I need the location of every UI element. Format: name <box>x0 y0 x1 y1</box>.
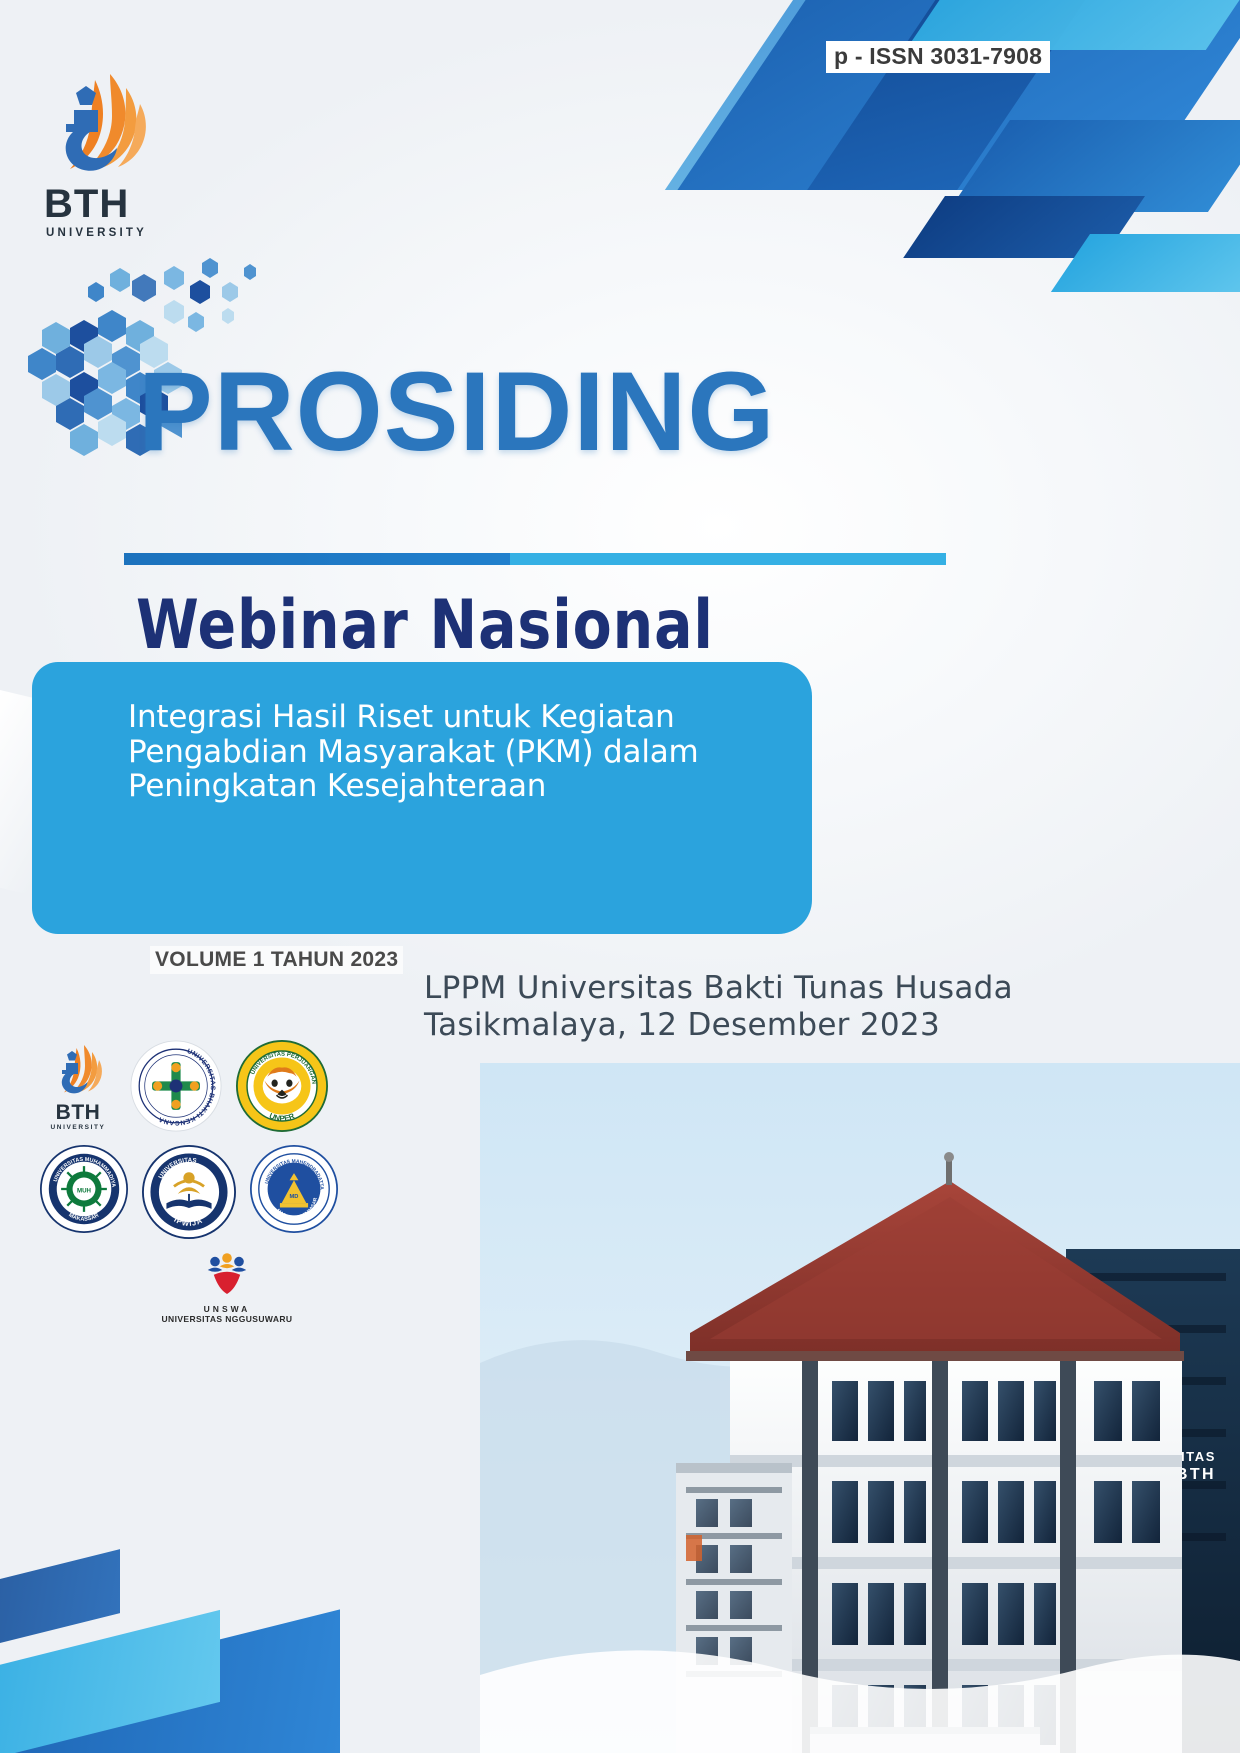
partner-bth-wordmark: BTH <box>40 1102 116 1123</box>
theme-line-3: Peningkatan Kesejahteraan <box>128 769 788 804</box>
partner-logo-muhammadiyah-makassar: MUH UNIVERSITAS MUHAMMADIYAH MAKASSAR <box>40 1145 128 1238</box>
partner-logo-row: UNSWA UNIVERSITAS NGGUSUWARU <box>152 1252 390 1324</box>
partner-logos: BTH UNIVERSITY <box>40 1040 390 1332</box>
svg-text:MUH: MUH <box>77 1188 92 1195</box>
divider-segment-right <box>510 553 946 565</box>
ipwija-seal-icon: UNIVERSITAS IPWIJA <box>142 1145 236 1239</box>
partner-logo-unswa: UNSWA UNIVERSITAS NGGUSUWARU <box>152 1252 302 1324</box>
organizer-block: LPPM Universitas Bakti Tunas Husada Tasi… <box>424 970 1013 1044</box>
campus-building-photo: UNIVERSITAS BTH <box>480 1063 1240 1753</box>
bth-subwordmark: UNIVERSITY <box>38 227 168 239</box>
partner-bth-subwordmark: UNIVERSITY <box>40 1124 116 1131</box>
bth-flame-icon <box>38 70 158 182</box>
bth-university-logo: BTH UNIVERSITY <box>38 70 168 239</box>
volume-label: VOLUME 1 TAHUN 2023 <box>150 946 403 974</box>
partner-logo-mahendradatta: MD UNIVERSITAS MAHENDRADATTA MARHAEN DEN… <box>250 1145 338 1238</box>
theme-line-2: Pengabdian Masyarakat (PKM) dalam <box>128 735 788 770</box>
organizer-line-1: LPPM Universitas Bakti Tunas Husada <box>424 970 1013 1007</box>
partner-logo-bth: BTH UNIVERSITY <box>40 1040 116 1131</box>
svg-text:MD: MD <box>290 1194 299 1200</box>
title-divider <box>124 553 946 565</box>
divider-segment-left <box>124 553 510 565</box>
unswa-people-icon <box>197 1252 257 1300</box>
unswa-fullname: UNIVERSITAS NGGUSUWARU <box>152 1314 302 1324</box>
unswa-acronym: UNSWA <box>152 1304 302 1314</box>
partner-logo-row: BTH UNIVERSITY <box>40 1040 390 1137</box>
issn-badge: p - ISSN 3031-7908 <box>826 41 1050 73</box>
theme-text: Integrasi Hasil Riset untuk Kegiatan Pen… <box>128 700 788 804</box>
bth-wordmark: BTH <box>38 184 168 224</box>
organizer-line-2: Tasikmalaya, 12 Desember 2023 <box>424 1007 1013 1044</box>
journal-cover: p - ISSN 3031-7908 BTH UNIVERSITY <box>0 0 1240 1753</box>
theme-line-1: Integrasi Hasil Riset untuk Kegiatan <box>128 700 788 735</box>
partner-logo-unper: UNIVERSITAS PERJUANGAN UNPER <box>236 1040 328 1137</box>
page-subtitle: Webinar Nasional <box>136 592 714 660</box>
partner-logo-bhakti-kencana: UNIVERSITAS BHAKTI KENCANA <box>130 1040 222 1137</box>
muhammadiyah-makassar-seal-icon: MUH UNIVERSITAS MUHAMMADIYAH MAKASSAR <box>40 1145 128 1233</box>
unper-seal-icon: UNIVERSITAS PERJUANGAN UNPER <box>236 1040 328 1132</box>
mahendradatta-seal-icon: MD UNIVERSITAS MAHENDRADATTA MARHAEN DEN… <box>250 1145 338 1233</box>
page-title: PROSIDING <box>138 356 776 468</box>
partner-logo-row: MUH UNIVERSITAS MUHAMMADIYAH MAKASSAR <box>40 1145 390 1244</box>
partner-logo-ipwija: UNIVERSITAS IPWIJA <box>142 1145 236 1244</box>
bth-flame-icon <box>48 1040 108 1102</box>
bhakti-kencana-seal-icon: UNIVERSITAS BHAKTI KENCANA <box>130 1040 222 1132</box>
